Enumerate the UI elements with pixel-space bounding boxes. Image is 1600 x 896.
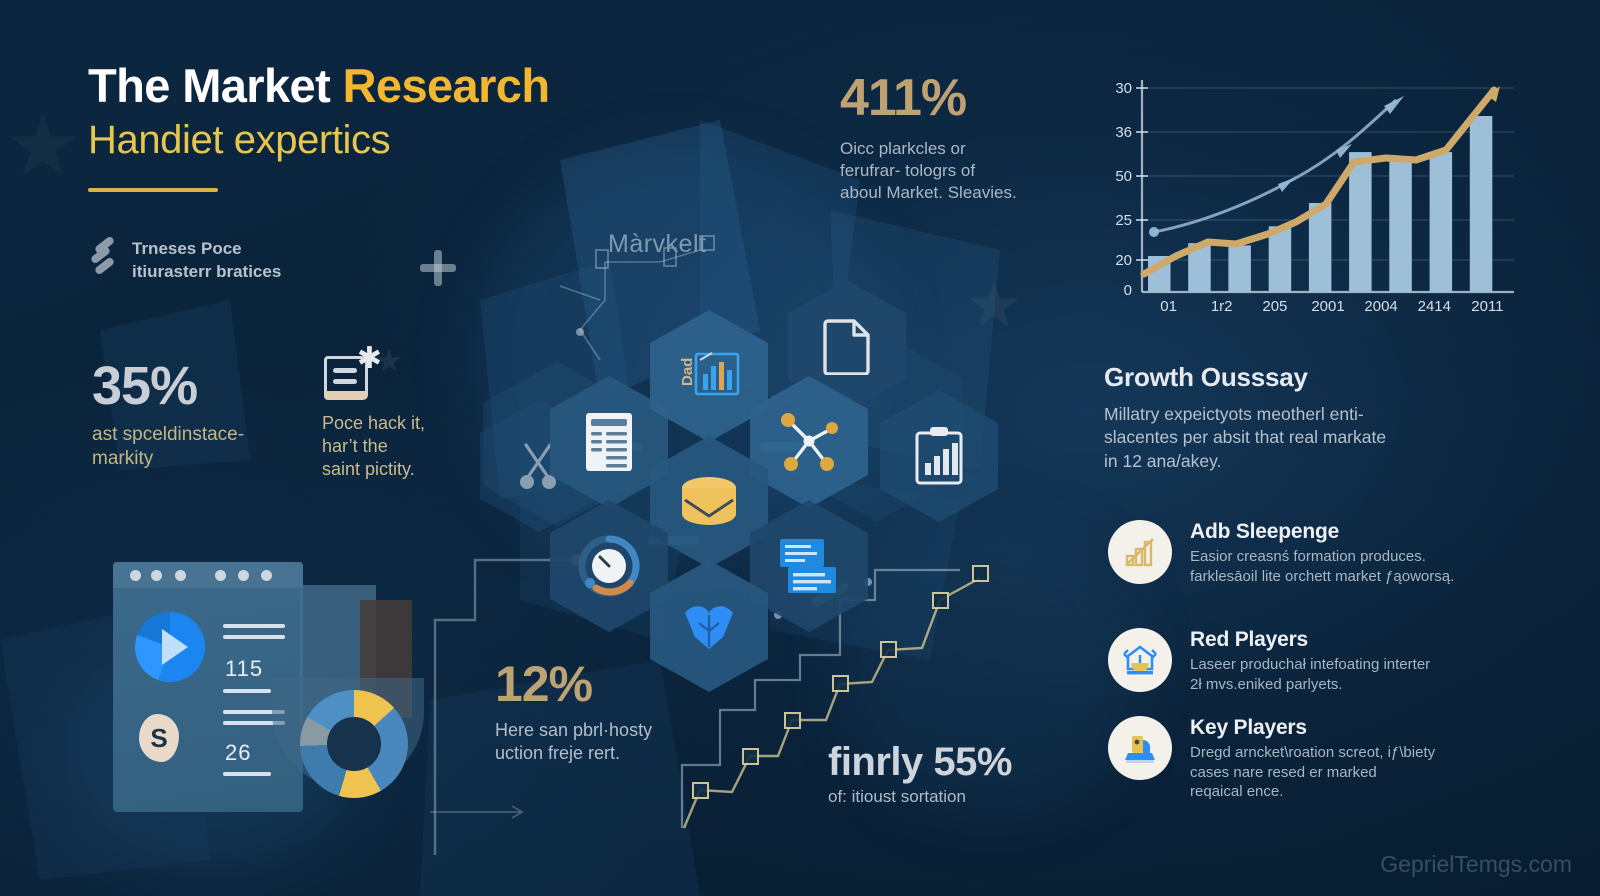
chart-xtick-label: 2004	[1364, 298, 1397, 315]
chart-bar	[1389, 156, 1412, 292]
bar-chart-growth-icon	[1108, 520, 1172, 584]
donut-chart	[300, 690, 408, 798]
page-title-accent: Research	[343, 59, 550, 112]
chart-xtick-label: 205	[1262, 298, 1287, 315]
chart-xtick-label: 01	[1160, 298, 1177, 315]
growth-summary-line-2: slacentes per absit that real markate	[1104, 427, 1386, 447]
stat-book-block: ✱ Poce hack it, har’t the saint pictity.	[322, 348, 462, 481]
chart-xtick-label: 2001	[1311, 298, 1344, 315]
stat-41-description: Oicc plarkcles or ferufrar- tologrs of a…	[840, 138, 1070, 203]
list-item-body-1: Easior creasnś formation produces.	[1190, 548, 1426, 565]
chart-bar	[1430, 152, 1453, 292]
growth-summary-line-1: Millatry expeictyots meotherl enti-	[1104, 404, 1364, 424]
list-item[interactable]: Red Players Laseer produchał intefoating…	[1108, 628, 1508, 694]
chart-ytick-label: 30	[1115, 80, 1132, 97]
header-block: The Market Research Handiet expertics	[88, 62, 738, 192]
chart-bar	[1228, 245, 1251, 292]
stat-35-block: 35% ast spceldinstace- markity	[92, 355, 302, 472]
list-item-text: Adb Sleepenge Easior creasnś formation p…	[1190, 520, 1454, 586]
gauge-icon	[576, 533, 642, 599]
window-dot	[261, 570, 272, 581]
list-item-body: Laseer produchał intefoating interter 2ł…	[1190, 655, 1430, 694]
ribbons-icon	[88, 240, 118, 274]
watermark: GeprielTemgs.com	[1380, 851, 1572, 878]
stat-book-desc-2: har’t the	[322, 436, 388, 456]
list-item-body-2: farklesāoil lite orchett market ƒąoworsą…	[1190, 568, 1454, 585]
s-badge: S	[139, 714, 179, 762]
title-divider	[88, 188, 218, 192]
list-item[interactable]: Key Players Dregd arncket\roation screot…	[1108, 716, 1508, 802]
list-item-body: Easior creasnś formation produces. farkl…	[1190, 547, 1454, 586]
server-icon	[582, 411, 636, 473]
window-dot	[238, 570, 249, 581]
chart-ytick-label: 50	[1115, 168, 1132, 185]
chart-bar	[1309, 203, 1332, 292]
page-title: The Market Research	[88, 62, 738, 111]
chart-xtick-label: 1r2	[1211, 298, 1233, 315]
network-nodes-icon	[778, 411, 840, 473]
page-title-main: The Market	[88, 59, 343, 112]
infographic-canvas: The Market Research Handiet expertics Tr…	[0, 0, 1600, 896]
hex-cluster: Dad	[488, 250, 1028, 650]
stat-35-value: 35%	[92, 355, 302, 417]
page-subtitle: Handiet expertics	[88, 118, 738, 162]
data-chart-icon: Dad	[678, 348, 740, 404]
growth-summary-line-3: in 12 ana/akey.	[1104, 451, 1221, 471]
window-dot	[175, 570, 186, 581]
dashboard-rule	[223, 635, 285, 639]
stat-41-desc-1: Oicc plarkcles or	[840, 139, 966, 158]
document-icon	[820, 317, 874, 375]
plus-icon	[418, 248, 458, 288]
chart-ytick-label: 36	[1115, 124, 1132, 141]
svg-text:Dad: Dad	[679, 358, 696, 386]
asterisk-icon: ✱	[357, 344, 382, 374]
growth-summary-block: Growth Ousssay Millatry expeictyots meot…	[1104, 362, 1504, 473]
documents-stack-icon	[778, 537, 840, 595]
stat-41-desc-3: aboul Market. Sleavies.	[840, 183, 1017, 202]
stat-35-desc-2: markity	[92, 448, 153, 469]
chart-ytick-label: 20	[1115, 252, 1132, 269]
dashboard-value-1: 115	[225, 656, 263, 682]
presentation-people-icon	[1108, 716, 1172, 780]
dashboard-titlebar	[113, 562, 303, 588]
list-item-body-1: Laseer produchał intefoating interter	[1190, 656, 1430, 673]
pie-play-icon	[135, 612, 205, 682]
window-dot	[151, 570, 162, 581]
exchange-house-icon	[1108, 628, 1172, 692]
list-item[interactable]: Adb Sleepenge Easior creasnś formation p…	[1108, 520, 1508, 586]
list-item-body-3: reqaical ence.	[1190, 783, 1283, 800]
handshake-icon	[679, 597, 739, 655]
stat-35-desc-1: ast spceldinstace-	[92, 424, 244, 445]
chart-ytick-label: 0	[1124, 282, 1132, 299]
list-item-body-2: cases nare resed er marked	[1190, 764, 1377, 781]
chart-ytick-label: 25	[1115, 212, 1132, 229]
window-dot	[130, 570, 141, 581]
stat-12-desc-2: uction freje rert.	[495, 743, 620, 763]
clipboard-chart-icon	[913, 425, 965, 487]
chart-bar	[1269, 226, 1292, 292]
dashboard-rule	[223, 689, 271, 693]
tagline-line-1: Trneses Poce	[132, 239, 242, 258]
list-item-body: Dregd arncket\roation screot, iƒ\biety c…	[1190, 743, 1435, 802]
growth-summary-title: Growth Ousssay	[1104, 362, 1504, 393]
dashboard-rule	[223, 772, 271, 776]
stat-book-desc-1: Poce hack it,	[322, 413, 425, 433]
tagline-text: Trneses Poce itiurasterr bratices	[132, 238, 281, 284]
list-item-title: Red Players	[1190, 628, 1430, 652]
chart-xtick-label: 2414	[1418, 298, 1451, 315]
list-item-body-1: Dregd arncket\roation screot, iƒ\biety	[1190, 744, 1435, 761]
chart-bar	[1349, 152, 1372, 292]
stat-41-value: 411%	[840, 68, 1070, 128]
growth-chart: 30365025200 011r22052001200424142011	[1096, 66, 1516, 316]
growth-summary-body: Millatry expeictyots meotherl enti- slac…	[1104, 403, 1504, 473]
list-item-title: Key Players	[1190, 716, 1435, 740]
tagline-block: Trneses Poce itiurasterr bratices	[88, 238, 281, 284]
list-item-body-2: 2ł mvs.eniked parlyets.	[1190, 676, 1343, 693]
list-item-text: Key Players Dregd arncket\roation screot…	[1190, 716, 1435, 802]
stat-book-desc-3: saint pictity.	[322, 459, 415, 479]
stat-41-block: 411% Oicc plarkcles or ferufrar- tologrs…	[840, 68, 1070, 203]
database-icon	[677, 474, 741, 530]
list-item-title: Adb Sleepenge	[1190, 520, 1454, 544]
window-dot	[215, 570, 226, 581]
stat-12-desc-1: Here san pbrl·hosty	[495, 720, 652, 740]
stat-41-desc-2: ferufrar- tologrs of	[840, 161, 975, 180]
tagline-line-2: itiurasterr bratices	[132, 262, 281, 281]
dashboard-value-2: 26	[225, 740, 251, 766]
stat-35-description: ast spceldinstace- markity	[92, 423, 302, 472]
dashboard-rule	[223, 624, 285, 628]
chart-xtick-label: 2011	[1471, 298, 1503, 315]
book-icon: ✱	[322, 348, 378, 404]
list-item-text: Red Players Laseer produchał intefoating…	[1190, 628, 1430, 694]
chart-bar	[1470, 116, 1493, 292]
stat-book-description: Poce hack it, har’t the saint pictity.	[322, 412, 462, 481]
